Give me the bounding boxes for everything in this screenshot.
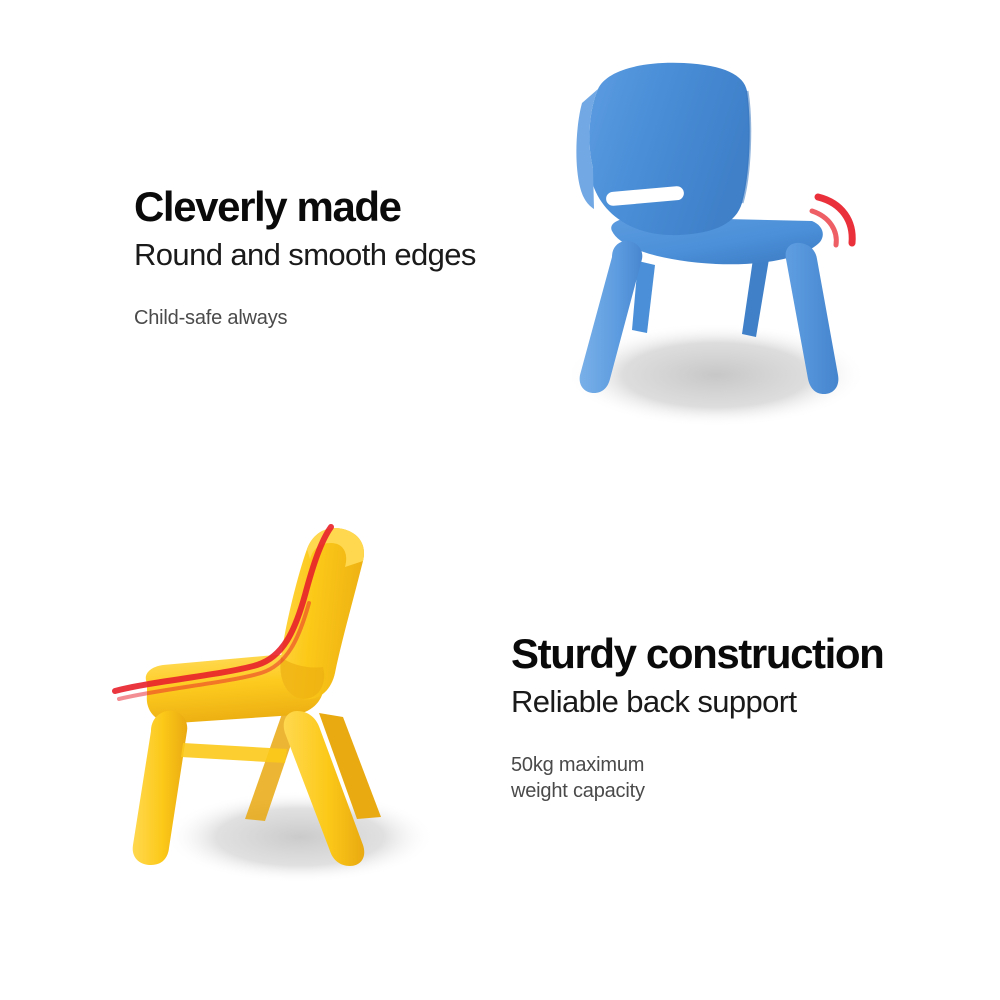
blue-chair-leg-back-right bbox=[742, 259, 769, 337]
product-feature-image: Cleverly made Round and smooth edges Chi… bbox=[0, 0, 1000, 1000]
feature-text-sturdy-construction: Sturdy construction Reliable back suppor… bbox=[511, 633, 883, 805]
blue-chair-image bbox=[520, 45, 920, 465]
feature-detail-sturdy-construction: 50kg maximum weight capacity bbox=[511, 752, 883, 805]
feature-headline-sturdy-construction: Sturdy construction bbox=[511, 633, 883, 675]
yellow-chair-image bbox=[105, 505, 485, 915]
feature-subhead-cleverly-made: Round and smooth edges bbox=[134, 238, 476, 273]
feature-subhead-sturdy-construction: Reliable back support bbox=[511, 685, 883, 720]
feature-headline-cleverly-made: Cleverly made bbox=[134, 186, 476, 228]
feature-text-cleverly-made: Cleverly made Round and smooth edges Chi… bbox=[134, 186, 476, 331]
yellow-chair-shadow bbox=[165, 791, 435, 883]
feature-detail-cleverly-made: Child-safe always bbox=[134, 305, 476, 331]
blue-chair-backrest bbox=[589, 63, 749, 235]
